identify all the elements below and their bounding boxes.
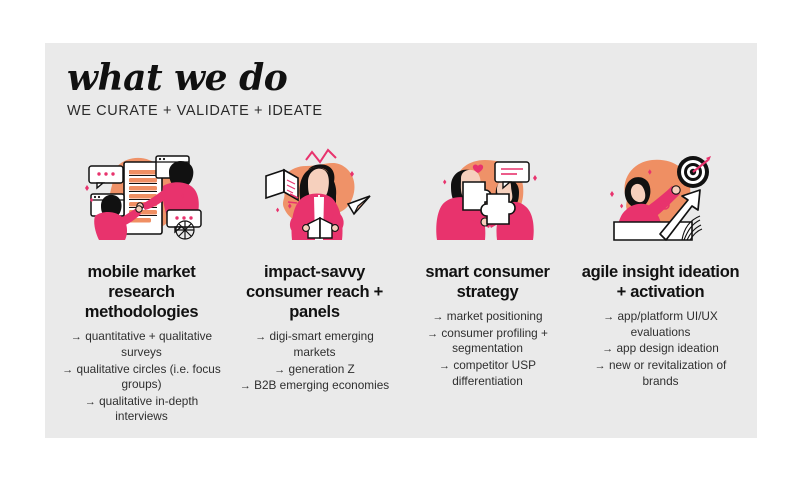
woman-reading-book-icon (250, 148, 380, 248)
list-item-label: qualitative in-depth interviews (99, 394, 198, 424)
list-item: → qualitative circles (i.e. focus groups… (61, 362, 222, 393)
column-bullets: → market positioning → consumer profilin… (401, 309, 574, 390)
arrow-icon: → (274, 364, 285, 376)
list-item-label: new or revitalization of brands (609, 358, 726, 388)
column-bullets: → app/platform UI/UX evaluations → app d… (574, 309, 747, 390)
list-item-label: digi-smart emerging markets (270, 329, 374, 359)
list-item: → consumer profiling + segmentation (407, 326, 568, 357)
list-item: → generation Z (234, 362, 395, 378)
list-item: → B2B emerging economies (234, 378, 395, 394)
slide-canvas: what we do WE CURATE + VALIDATE + IDEATE (45, 43, 757, 438)
arrow-icon: → (603, 311, 614, 323)
arrow-icon: → (432, 311, 443, 323)
list-item: → new or revitalization of brands (580, 358, 741, 389)
list-item-label: generation Z (289, 362, 355, 376)
list-item: → competitor USP differentiation (407, 358, 568, 389)
list-item: → quantitative + qualitative surveys (61, 329, 222, 360)
list-item: → app design ideation (580, 341, 741, 357)
list-item-label: app/platform UI/UX evaluations (617, 309, 717, 339)
list-item: → app/platform UI/UX evaluations (580, 309, 741, 340)
service-columns: mobile market research methodologies → q… (55, 148, 747, 426)
list-item-label: qualitative circles (i.e. focus groups) (77, 362, 221, 392)
column-heading: agile insight ideation + activation (574, 262, 747, 302)
service-column-smart-consumer-strategy: smart consumer strategy → market positio… (401, 148, 574, 390)
list-item-label: competitor USP differentiation (452, 358, 536, 388)
page-title: what we do (67, 60, 323, 96)
list-item-label: app design ideation (616, 341, 718, 355)
list-item: → market positioning (407, 309, 568, 325)
column-heading: smart consumer strategy (401, 262, 574, 302)
arrow-icon: → (62, 364, 73, 376)
arrow-icon: → (85, 396, 96, 408)
column-bullets: → digi-smart emerging markets → generati… (228, 329, 401, 394)
list-item: → digi-smart emerging markets (234, 329, 395, 360)
service-column-mobile-market-research: mobile market research methodologies → q… (55, 148, 228, 426)
slide-header: what we do WE CURATE + VALIDATE + IDEATE (67, 60, 323, 119)
arrow-icon: → (602, 343, 613, 355)
people-with-documents-icon (77, 148, 207, 248)
arrow-icon: → (71, 331, 82, 343)
list-item: → qualitative in-depth interviews (61, 394, 222, 425)
list-item-label: market positioning (447, 309, 543, 323)
person-pushing-arrow-target-icon (596, 148, 726, 248)
column-bullets: → quantitative + qualitative surveys → q… (55, 329, 228, 425)
service-column-agile-insight-ideation: agile insight ideation + activation → ap… (574, 148, 747, 390)
arrow-icon: → (255, 331, 266, 343)
arrow-icon: → (240, 380, 251, 392)
two-people-puzzle-pieces-icon (423, 148, 553, 248)
column-heading: mobile market research methodologies (55, 262, 228, 322)
arrow-icon: → (595, 360, 606, 372)
list-item-label: consumer profiling + segmentation (441, 326, 548, 356)
page-subtitle: WE CURATE + VALIDATE + IDEATE (67, 103, 323, 119)
arrow-icon: → (427, 328, 438, 340)
column-heading: impact-savvy consumer reach + panels (228, 262, 401, 322)
list-item-label: B2B emerging economies (254, 378, 389, 392)
arrow-icon: → (439, 360, 450, 372)
list-item-label: quantitative + qualitative surveys (85, 329, 212, 359)
service-column-impact-savvy-consumer-reach: impact-savvy consumer reach + panels → d… (228, 148, 401, 395)
